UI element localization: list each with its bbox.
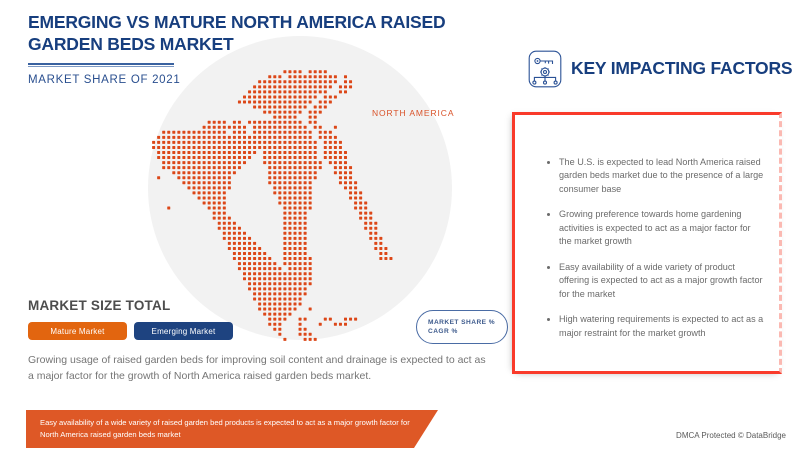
- page-title: EMERGING VS MATURE NORTH AMERICA RAISED …: [28, 12, 488, 56]
- list-item: The U.S. is expected to lead North Ameri…: [546, 156, 764, 196]
- lead-paragraph: Growing usage of raised garden beds for …: [28, 352, 494, 385]
- list-item: Easy availability of a wide variety of p…: [546, 261, 764, 301]
- list-item: Growing preference towards home gardenin…: [546, 208, 764, 248]
- infographic-page: EMERGING VS MATURE NORTH AMERICA RAISED …: [0, 0, 800, 450]
- legend-pill-emerging-market[interactable]: Emerging Market: [134, 322, 233, 340]
- list-item: High watering requirements is expected t…: [546, 313, 764, 340]
- cagr-line: CAGR %: [428, 328, 507, 335]
- highlight-ribbon: Easy availability of a wide variety of r…: [26, 410, 438, 448]
- legend-pill-mature-market[interactable]: Mature Market: [28, 322, 127, 340]
- key-impacting-factors-header: KEY IMPACTING FACTORS: [528, 50, 792, 88]
- legend-title: MARKET SIZE TOTAL: [28, 298, 233, 313]
- map-region-label: NORTH AMERICA: [372, 108, 454, 118]
- footer-credit: DMCA Protected © DataBridge: [676, 431, 786, 440]
- highlight-ribbon-text: Easy availability of a wide variety of r…: [26, 417, 438, 441]
- key-impacting-factors-title: KEY IMPACTING FACTORS: [571, 59, 792, 78]
- market-size-legend: MARKET SIZE TOTAL Mature Market Emerging…: [28, 298, 233, 340]
- market-share-line: MARKET SHARE %: [428, 319, 507, 326]
- legend-pill-group: Mature Market Emerging Market: [28, 322, 233, 340]
- key-impacting-factors-list: The U.S. is expected to lead North Ameri…: [546, 156, 764, 352]
- key-gear-network-icon: [528, 50, 562, 88]
- market-share-callout: MARKET SHARE % CAGR %: [416, 310, 508, 344]
